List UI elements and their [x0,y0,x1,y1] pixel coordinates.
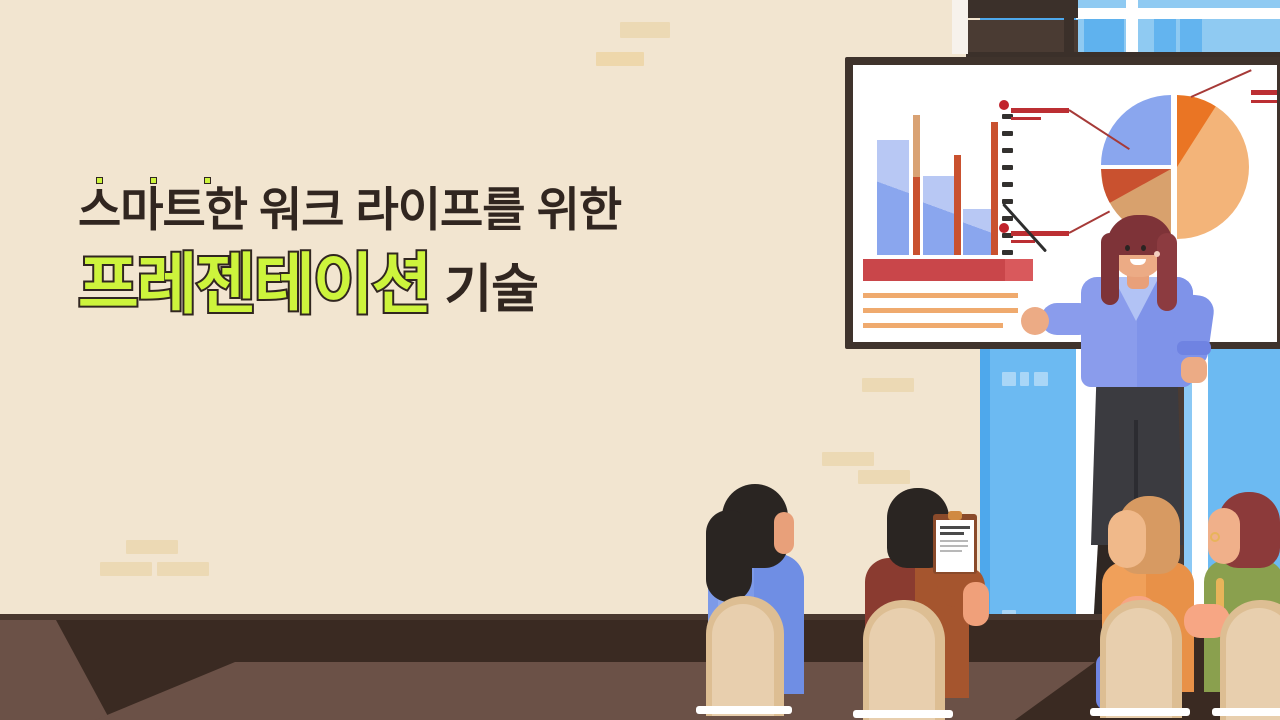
bar-marker-1b [913,177,920,255]
brick [157,562,209,576]
chair-back-inner [712,604,774,716]
chair-leg [1212,708,1280,716]
bar-marker-3 [991,122,998,255]
brick [822,452,874,466]
window-light [1002,372,1016,386]
brick [100,562,152,576]
poster-canvas: 스마트한 워크 라이프를 위한 프레젠테이션 기술 [0,0,1280,720]
earring [1210,532,1220,542]
chair-back-inner [869,608,935,720]
hand [963,582,989,626]
presenter-hand-left [1021,307,1049,335]
chair-leg [696,706,792,714]
clipboard [933,514,977,574]
bar-3 [963,209,991,255]
window-light [1020,372,1029,386]
face-profile [1108,510,1146,568]
presenter-eye-right [1141,245,1146,251]
brick [126,540,178,554]
bar-marker-2 [954,155,961,255]
presenter-cuff [1177,341,1211,355]
board-red-bar-highlight [1005,259,1033,281]
brick [596,52,644,66]
audience-member-2 [845,478,1025,720]
chair-back-inner [1226,608,1280,720]
hair-side [706,510,752,602]
headline-tail: 기술 [444,264,538,316]
headline-line-2: 프레젠테이션 기술 [78,251,768,317]
brick [620,22,670,38]
ceiling-beam [966,20,1078,52]
audience-member-4 [1196,486,1280,720]
chair-leg [853,710,953,718]
presenter-hand-right [1181,357,1207,383]
board-line [863,323,1003,328]
chair-back-inner [1106,608,1172,718]
presenter-hair-right [1157,233,1177,311]
headline-highlight: 프레젠테이션 [78,251,430,317]
presenter-eye-left [1125,245,1130,251]
wall-edge [952,0,968,54]
headline-block: 스마트한 워크 라이프를 위한 프레젠테이션 기술 [78,186,768,317]
chair-leg [1090,708,1190,716]
beam-post [1064,0,1074,56]
presenter-hair-left [1101,233,1119,305]
board-line [863,308,1018,313]
presenter-arm-left [1041,303,1095,335]
presenter-earring [1154,251,1160,257]
ceiling-beam [966,0,1078,18]
bar-1 [877,140,909,255]
board-line [863,293,1018,298]
bar-2 [923,176,955,255]
headline-line-1: 스마트한 워크 라이프를 위한 [78,186,768,233]
brick [862,378,914,392]
neck-face [774,512,794,554]
bar-chart [863,105,1013,255]
audience-member-1 [690,470,840,720]
